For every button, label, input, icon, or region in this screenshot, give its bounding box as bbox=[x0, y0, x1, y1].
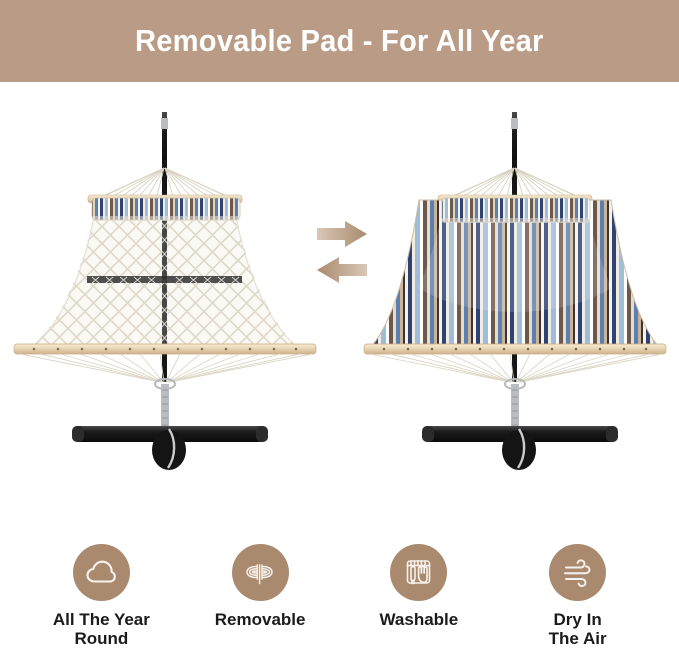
clip-icon bbox=[243, 556, 277, 590]
right-hammock-group bbox=[364, 112, 666, 470]
left-hammock-group bbox=[14, 112, 316, 470]
feature-item-washable[interactable]: Washable bbox=[349, 528, 489, 629]
feature-icon-circle bbox=[73, 544, 130, 601]
feature-label: All The Year Round bbox=[53, 610, 150, 648]
hero-illustration bbox=[0, 82, 679, 510]
right-pillow bbox=[442, 198, 590, 223]
left-pillow bbox=[92, 198, 240, 221]
feature-label: Dry In The Air bbox=[549, 610, 607, 648]
page-title: Removable Pad - For All Year bbox=[135, 23, 544, 59]
arrow-right-icon bbox=[317, 221, 367, 247]
feature-label: Removable bbox=[215, 610, 306, 629]
swap-arrows bbox=[311, 218, 373, 290]
arrow-left-icon bbox=[317, 257, 367, 283]
feature-icon-circle bbox=[390, 544, 447, 601]
feature-icon-circle bbox=[232, 544, 289, 601]
product-comparison-stage bbox=[0, 82, 679, 510]
feature-item-dry-in-the-air[interactable]: Dry In The Air bbox=[508, 528, 648, 648]
feature-item-removable[interactable]: Removable bbox=[190, 528, 330, 629]
hand-wash-icon bbox=[402, 556, 436, 590]
feature-badge-row: All The Year Round bbox=[0, 528, 679, 640]
cloud-icon bbox=[84, 556, 118, 590]
header-banner: Removable Pad - For All Year bbox=[0, 0, 679, 82]
feature-label: Washable bbox=[380, 610, 459, 629]
feature-item-all-the-year-round[interactable]: All The Year Round bbox=[31, 528, 171, 648]
wind-icon bbox=[561, 556, 595, 590]
feature-icon-circle bbox=[549, 544, 606, 601]
